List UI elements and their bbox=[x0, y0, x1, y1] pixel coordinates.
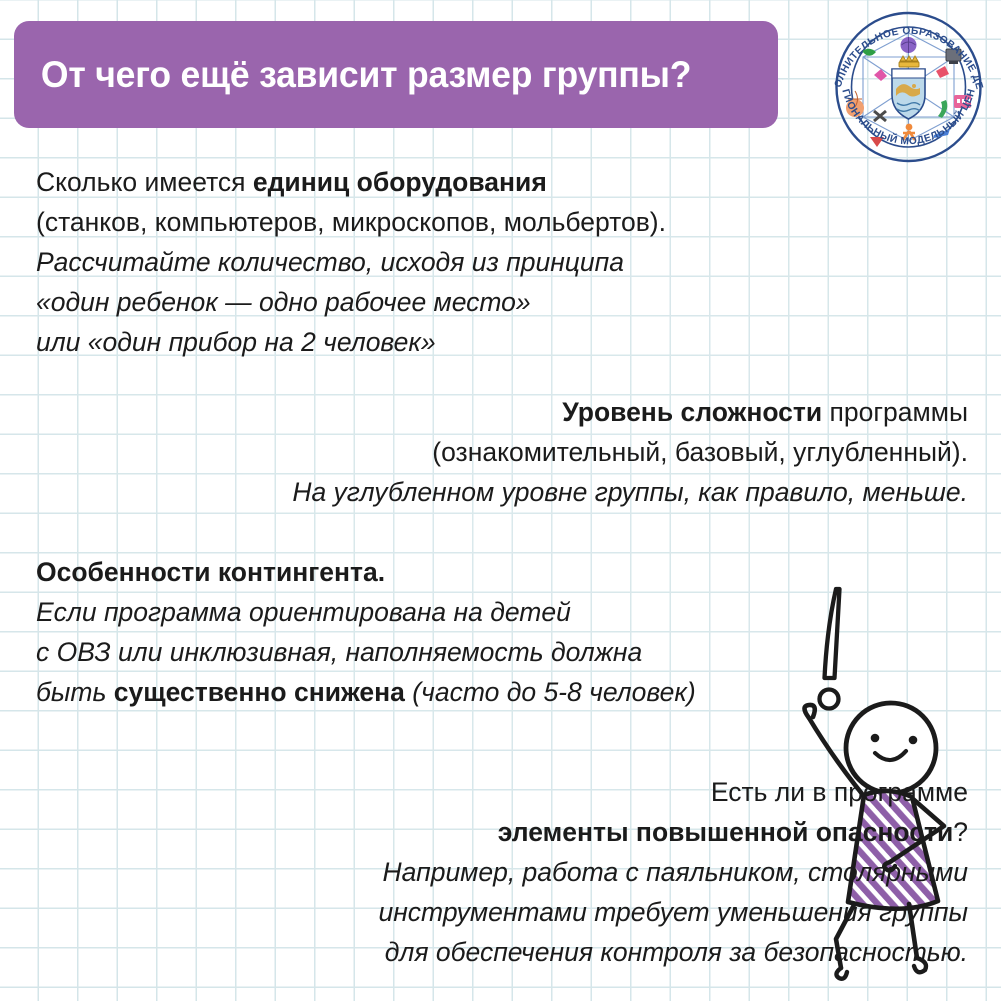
text-run: программы bbox=[822, 397, 968, 427]
text-run: инструментами требует уменьшения группы bbox=[378, 897, 968, 927]
text-run: единиц оборудования bbox=[253, 167, 547, 197]
text-line: (ознакомительный, базовый, углубленный). bbox=[292, 432, 968, 472]
text-run: элементы повышенной опасности bbox=[498, 817, 953, 847]
text-run: Рассчитайте количество, исходя из принци… bbox=[36, 247, 624, 277]
text-line: Если программа ориентирована на детей bbox=[36, 592, 696, 632]
text-run: Например, работа с паяльником, столярным… bbox=[383, 857, 968, 887]
text-line: элементы повышенной опасности? bbox=[378, 812, 968, 852]
text-line: Есть ли в программе bbox=[378, 772, 968, 812]
text-block-equipment: Сколько имеется единиц оборудования(стан… bbox=[36, 162, 666, 362]
text-block-level: Уровень сложности программы(ознакомитель… bbox=[292, 392, 968, 512]
text-line: Сколько имеется единиц оборудования bbox=[36, 162, 666, 202]
text-run: Если программа ориентирована на детей bbox=[36, 597, 571, 627]
text-block-contingent: Особенности контингента.Если программа о… bbox=[36, 552, 696, 712]
text-run: Уровень сложности bbox=[562, 397, 822, 427]
text-run: На углубленном уровне группы, как правил… bbox=[292, 477, 968, 507]
text-run: или «один прибор на 2 человек» bbox=[36, 327, 436, 357]
text-run: для обеспечения контроля за безопасность… bbox=[385, 937, 968, 967]
text-run: с ОВЗ или инклюзивная, наполняемость дол… bbox=[36, 637, 642, 667]
text-line: инструментами требует уменьшения группы bbox=[378, 892, 968, 932]
text-run: (часто до 5-8 человек) bbox=[405, 677, 696, 707]
text-run: Особенности контингента. bbox=[36, 557, 385, 587]
text-line: Особенности контингента. bbox=[36, 552, 696, 592]
text-line: На углубленном уровне группы, как правил… bbox=[292, 472, 968, 512]
text-run: Есть ли в программе bbox=[711, 777, 968, 807]
text-block-danger: Есть ли в программеэлементы повышенной о… bbox=[378, 772, 968, 972]
text-run: (станков, компьютеров, микроскопов, моль… bbox=[36, 207, 666, 237]
text-line: (станков, компьютеров, микроскопов, моль… bbox=[36, 202, 666, 242]
text-line: Например, работа с паяльником, столярным… bbox=[378, 852, 968, 892]
text-line: Рассчитайте количество, исходя из принци… bbox=[36, 242, 666, 282]
text-line: Уровень сложности программы bbox=[292, 392, 968, 432]
text-run: существенно снижена bbox=[114, 677, 405, 707]
text-line: или «один прибор на 2 человек» bbox=[36, 322, 666, 362]
text-run: Сколько имеется bbox=[36, 167, 253, 197]
text-line: быть существенно снижена (часто до 5-8 ч… bbox=[36, 672, 696, 712]
text-line: с ОВЗ или инклюзивная, наполняемость дол… bbox=[36, 632, 696, 672]
text-run: «один ребенок — одно рабочее место» bbox=[36, 287, 531, 317]
text-line: для обеспечения контроля за безопасность… bbox=[378, 932, 968, 972]
text-run: ? bbox=[953, 817, 968, 847]
page-title: От чего ещё зависит размер группы? bbox=[14, 56, 691, 93]
text-run: быть bbox=[36, 677, 114, 707]
regional-model-center-logo: ДОПОЛНИТЕЛЬНОЕ ОБРАЗОВАНИЕ ДЕТЕЙ РЕГИОНА… bbox=[826, 5, 991, 165]
text-run: (ознакомительный, базовый, углубленный). bbox=[432, 437, 968, 467]
header-banner: От чего ещё зависит размер группы? bbox=[14, 21, 778, 128]
text-line: «один ребенок — одно рабочее место» bbox=[36, 282, 666, 322]
